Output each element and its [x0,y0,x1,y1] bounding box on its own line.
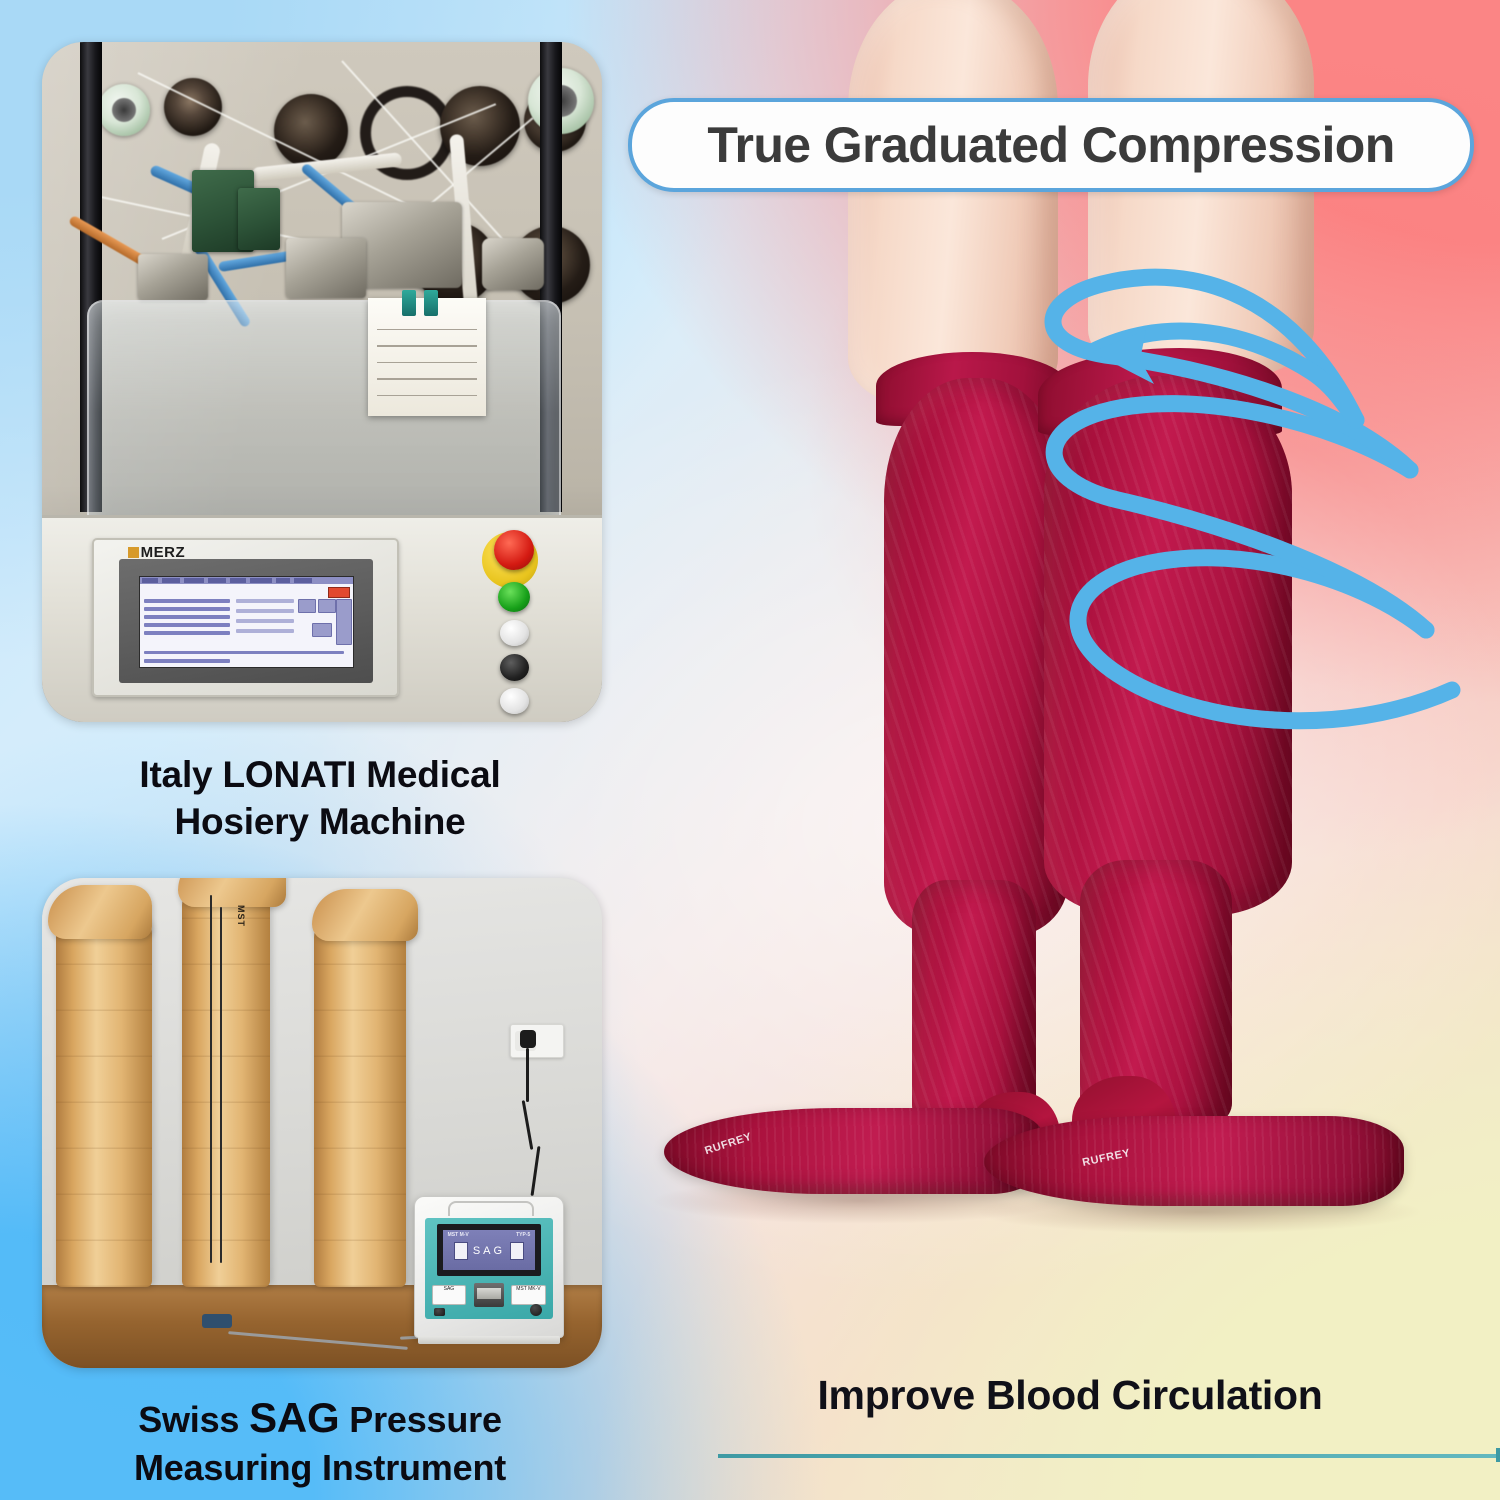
screen-label-right: TYP-5 [516,1232,530,1238]
device-faceplate: MST M-V TYP-5 SAG SAG MST MK-V [425,1218,552,1319]
button-white-2[interactable] [500,688,529,714]
merz-logo-mark [128,547,139,558]
knitting-machine-photo: MERZ MASCHINENFABRIK GMBH [42,42,602,722]
button-black[interactable] [500,654,529,681]
model-legs-photo: RUFREY RUFREY [640,0,1500,1320]
emergency-stop-button[interactable] [494,530,534,570]
left-column: MERZ MASCHINENFABRIK GMBH [0,0,640,1500]
device-connector-knob[interactable] [530,1304,542,1316]
circulation-caption: Improve Blood Circulation [640,1372,1500,1419]
bottom-divider [718,1454,1500,1458]
machine-lcd-screen[interactable] [139,576,354,667]
sag-caption-line2: Measuring Instrument [0,1445,640,1490]
sensor-probe [202,1314,232,1328]
sag-caption: Swiss SAG Pressure Measuring Instrument [0,1392,640,1490]
device-switch[interactable] [434,1308,445,1316]
yarn-spool [164,78,222,136]
wooden-leg-form [56,915,152,1287]
sag-brand: SAG [249,1394,339,1441]
machine-caption-line2: Hosiery Machine [0,799,640,846]
sensor-cable [220,907,222,1263]
circulation-text: Improve Blood Circulation [817,1372,1322,1418]
machine-mechanism [482,238,544,290]
power-plug [520,1030,536,1048]
device-stand [418,1336,560,1344]
lcd-alarm-indicator [328,587,350,598]
headline-banner: True Graduated Compression [628,98,1474,192]
wooden-leg-form: MST [182,887,270,1287]
machine-caption: Italy LONATI Medical Hosiery Machine [0,752,640,845]
device-label-right: MST MK-V [511,1285,547,1305]
screen-label-left: MST M-V [448,1232,469,1238]
leg-form-label: MST [236,905,246,927]
circuit-board [238,188,280,250]
sensor-cable [210,895,212,1263]
product-infographic: MERZ MASCHINENFABRIK GMBH [0,0,1500,1500]
pulley-wheel [98,84,150,136]
sag-caption-line1: Swiss SAG Pressure [0,1392,640,1445]
machine-mechanism [138,254,208,300]
machine-caption-line1: Italy LONATI Medical [0,752,640,799]
device-printer-slot [474,1283,505,1307]
machine-base: MERZ MASCHINENFABRIK GMBH [42,515,602,722]
device-label-left: SAG [432,1285,466,1305]
screen-word: SAG [443,1245,535,1257]
wooden-leg-form [314,919,406,1287]
bare-leg-left [848,0,1058,410]
wall-outlet [510,1024,564,1058]
compression-sock-right [1044,376,1292,916]
button-white-1[interactable] [500,620,529,646]
screen-bezel [119,559,373,683]
device-handle [448,1201,535,1216]
device-screen[interactable]: MST M-V TYP-5 SAG [437,1224,541,1276]
compression-sock-left [884,378,1068,938]
sag-instrument-photo: MST [42,878,602,1368]
start-button-green[interactable] [498,582,530,612]
lcd-menu-bar [140,577,353,584]
control-panel: MERZ MASCHINENFABRIK GMBH [92,538,398,697]
sag-measuring-device: MST M-V TYP-5 SAG SAG MST MK-V [414,1196,564,1338]
machine-glass-guard [87,300,561,549]
device-screen-content: MST M-V TYP-5 SAG [443,1230,535,1270]
binder-clip [424,290,438,316]
foot-shadow-right [974,1190,1424,1234]
binder-clip [402,290,416,316]
headline-text: True Graduated Compression [707,116,1394,174]
machine-mechanism [286,238,366,298]
power-cord [526,1048,529,1102]
